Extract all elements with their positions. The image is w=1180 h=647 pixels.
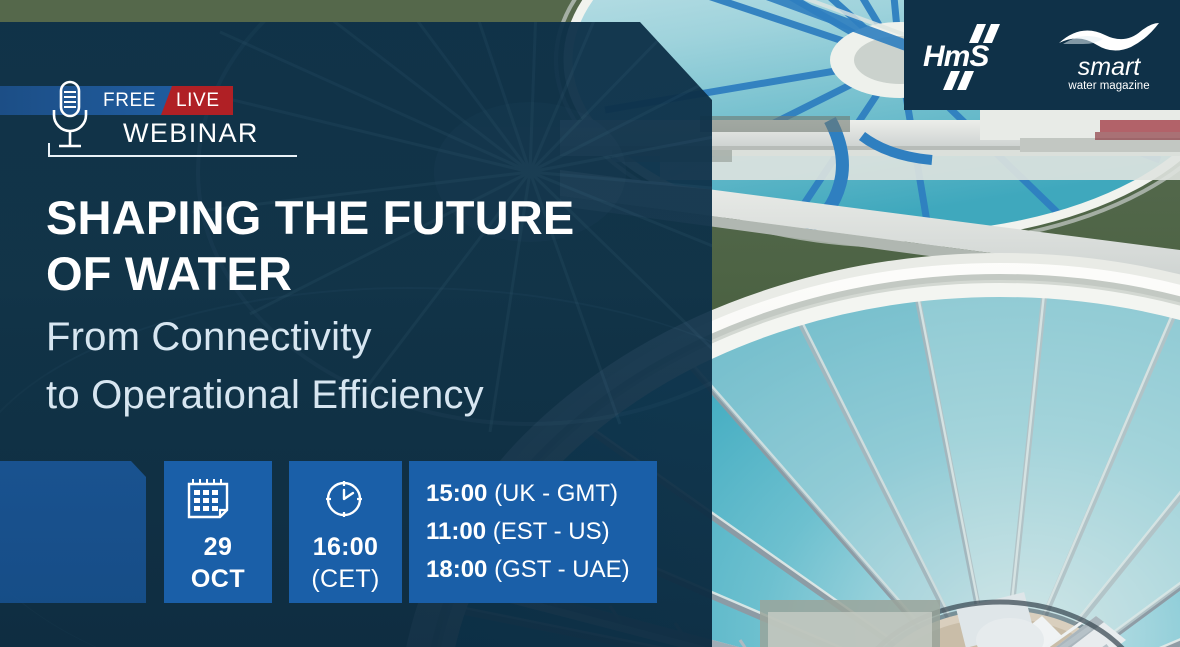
microphone-icon: [48, 80, 92, 152]
timezone-card: 15:00 (UK - GMT) 11:00 (EST - US) 18:00 …: [409, 461, 657, 603]
headline-line-1: SHAPING THE FUTURE: [46, 190, 706, 246]
timezone-label: (GST - UAE): [494, 556, 630, 583]
headline-line-2: OF WATER: [46, 246, 706, 302]
timezone-row: 15:00 (UK - GMT): [426, 475, 649, 513]
rule-tick: [48, 143, 50, 155]
svg-text:smart: smart: [1078, 53, 1142, 81]
svg-text:HmS: HmS: [923, 40, 989, 73]
time-card: 16:00 (CET): [289, 461, 402, 603]
date-card: 29 OCT: [164, 461, 272, 603]
timezone-label: (EST - US): [493, 518, 610, 545]
timezone-list: 15:00 (UK - GMT) 11:00 (EST - US) 18:00 …: [426, 475, 649, 589]
time-zone: (CET): [289, 565, 402, 594]
webinar-label: WEBINAR: [123, 118, 259, 149]
date-month: OCT: [164, 565, 272, 594]
live-label: LIVE: [176, 87, 220, 114]
decorative-block: [0, 461, 146, 603]
smart-water-magazine-logo: smart water magazine: [1055, 19, 1163, 95]
hms-logo: HmS: [921, 20, 1029, 94]
timezone-label: (UK - GMT): [494, 480, 618, 507]
webinar-banner: HmS smart water magazine FREE LIVE: [0, 0, 1180, 647]
free-label: FREE: [103, 87, 156, 114]
timezone-row: 11:00 (EST - US): [426, 513, 649, 551]
logo-block: HmS smart water magazine: [904, 0, 1180, 110]
calendar-icon: [186, 477, 230, 519]
subtitle-line-2: to Operational Efficiency: [46, 366, 726, 424]
timezone-time: 18:00: [426, 556, 487, 583]
timezone-time: 15:00: [426, 480, 487, 507]
date-day: 29: [164, 533, 272, 562]
subtitle-line-1: From Connectivity: [46, 308, 726, 366]
svg-text:water magazine: water magazine: [1067, 80, 1149, 92]
timezone-row: 18:00 (GST - UAE): [426, 551, 649, 589]
timezone-time: 11:00: [426, 518, 486, 545]
page-subtitle: From Connectivity to Operational Efficie…: [46, 308, 726, 424]
page-title: SHAPING THE FUTURE OF WATER: [46, 190, 706, 302]
clock-icon: [322, 478, 366, 520]
header-rule: [48, 155, 297, 157]
time-value: 16:00: [289, 533, 402, 562]
